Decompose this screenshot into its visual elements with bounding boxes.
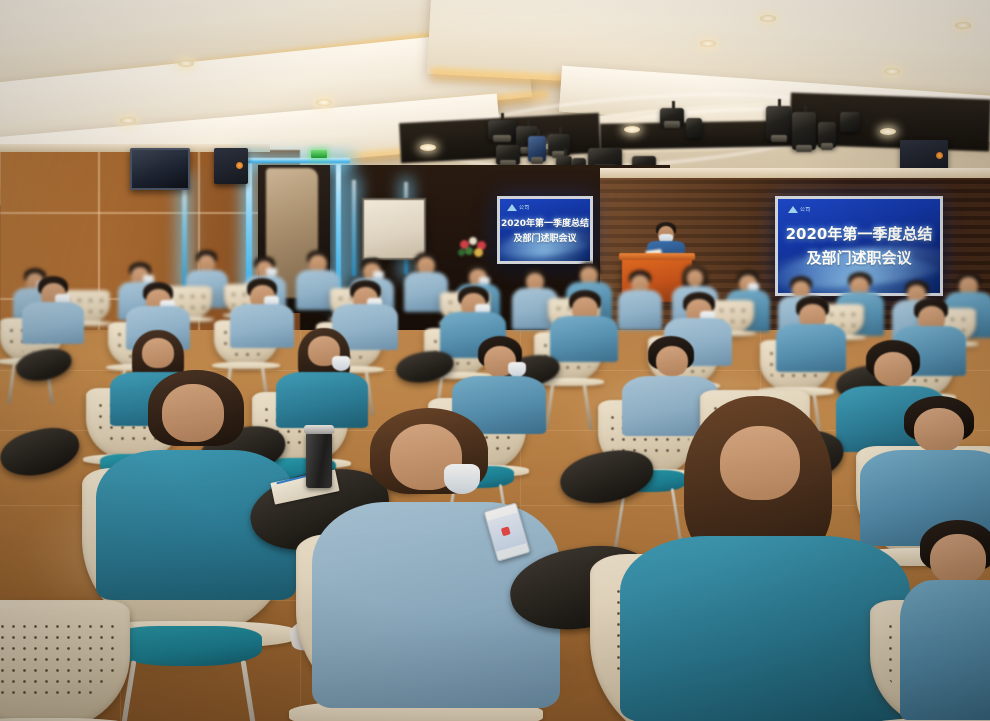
stage-light <box>792 112 816 150</box>
attendee <box>22 276 84 344</box>
floral-arrangement <box>458 236 490 262</box>
wall-monitor <box>130 148 190 190</box>
left-projection-screen: 公司 2020年第一季度总结 及部门述职会议 <box>497 196 593 264</box>
downlight <box>624 126 640 133</box>
company-logo-icon <box>507 204 517 211</box>
stage-light <box>766 106 792 140</box>
slide-line-2: 及部门述职会议 <box>778 247 940 268</box>
company-logo-text: 公司 <box>800 206 811 213</box>
stage-light <box>528 136 546 162</box>
downlight <box>880 128 896 135</box>
attendee <box>550 290 618 362</box>
company-logo-text: 公司 <box>519 204 530 211</box>
stage-light <box>488 120 516 140</box>
slide-line-1: 2020年第一季度总结 <box>778 223 940 244</box>
downlight <box>420 144 436 151</box>
conference-room-photo: 公司 2020年第一季度总结 及部门述职会议 公司 2020年第一季度总结 及部… <box>0 0 990 721</box>
downlight <box>884 68 900 75</box>
screen-logo: 公司 <box>507 204 530 211</box>
exit-sign <box>311 150 327 158</box>
attendee <box>618 270 662 330</box>
screen-logo: 公司 <box>788 206 811 213</box>
slide-line-2: 及部门述职会议 <box>500 231 590 244</box>
chair <box>0 600 130 721</box>
downlight <box>316 99 332 106</box>
stage-light <box>686 118 702 138</box>
stage-light <box>548 134 570 156</box>
attendee-foreground-left <box>96 370 296 600</box>
stage-light <box>660 108 684 126</box>
stage-light <box>840 112 860 132</box>
company-logo-icon <box>788 206 798 213</box>
downlight <box>760 15 776 22</box>
stage-light <box>496 145 520 165</box>
wall-speaker-left <box>214 148 248 184</box>
slide-line-1: 2020年第一季度总结 <box>500 216 590 229</box>
attendee-foreground-right <box>620 396 910 721</box>
whiteboard <box>362 198 426 260</box>
downlight <box>120 117 136 124</box>
downlight <box>700 40 716 47</box>
downlight <box>178 60 194 67</box>
downlight <box>955 22 971 29</box>
attendee-foreground-center <box>312 408 560 708</box>
stage-light <box>818 122 836 148</box>
led-strip-horizontal <box>240 158 350 163</box>
wall-cornice <box>600 168 990 178</box>
truss-speaker-icon <box>900 140 948 170</box>
attendee-right-edge <box>900 520 990 720</box>
